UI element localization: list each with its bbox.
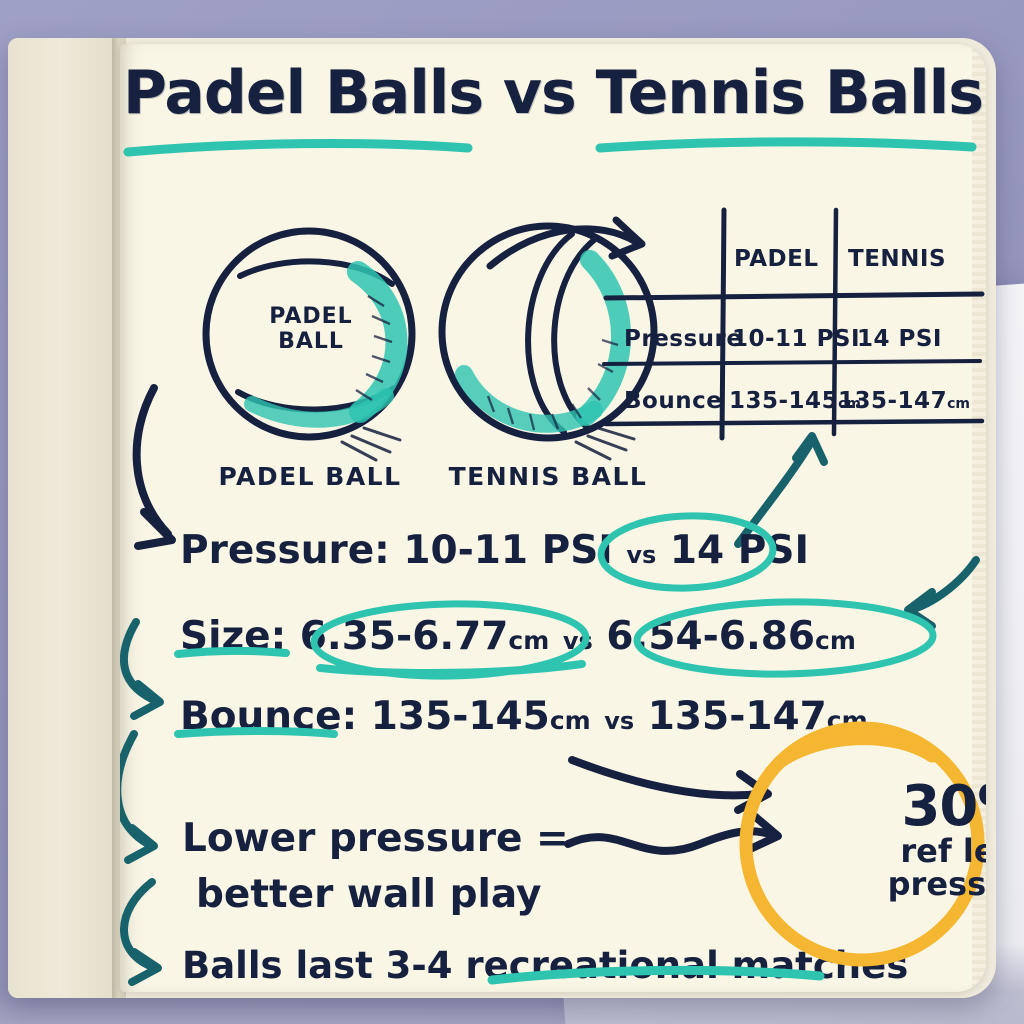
bullet-bounce: Bounce: 135-145cm vs 135-147cm <box>180 694 868 739</box>
bullet-bounce-vs: vs <box>604 707 634 735</box>
bullet-pressure-padel-value: 10-11 PSI <box>403 528 613 573</box>
ink-layer: Padel Balls vs Tennis Balls <box>120 44 986 992</box>
table-cell-pressure-tennis: 14 PSI <box>857 326 942 352</box>
comparison-table: PADEL TENNIS Pressure 10-11 PSI 14 PSI B… <box>712 240 986 452</box>
bullet-pressure-vs: vs <box>626 541 656 569</box>
bullet-bounce-padel-unit: cm <box>550 706 591 735</box>
bullet-pressure: Pressure: 10-11 PSI vs 14 PSI <box>180 528 809 573</box>
bullet-size-vs: vs <box>563 627 593 655</box>
bullet-pressure-label: Pressure: <box>180 528 390 573</box>
padel-inner-line1: PADEL <box>269 304 352 329</box>
table-row-label-bounce: Bounce <box>624 388 722 414</box>
tennis-ball-caption: TENNIS BALL <box>418 462 678 491</box>
bullet-size: Size: 6.35-6.77cm vs 6.54-6.86cm <box>180 614 856 659</box>
page-title: Padel Balls vs Tennis Balls <box>120 58 986 128</box>
note-lifespan: Balls last 3-4 recreational matches <box>182 944 908 987</box>
bullet-pressure-tennis-value: 14 PSI <box>670 528 809 573</box>
notebook-left-page <box>8 38 126 998</box>
note-wall-play-line2: better wall play <box>196 872 541 917</box>
padel-ball-inner-label: PADEL BALL <box>252 304 370 355</box>
table-col-header-tennis: TENNIS <box>848 246 946 272</box>
bullet-bounce-label: Bounce: <box>180 694 357 739</box>
pressure-badge: 30% ref less pressure <box>864 736 986 942</box>
bullet-size-label: Size: <box>180 614 286 659</box>
padel-ball-caption: PADEL BALL <box>180 462 440 491</box>
bullet-size-padel-value: 6.35-6.77 <box>300 614 509 659</box>
badge-line2: ref less <box>900 835 986 868</box>
table-bounce-tennis-unit: cm <box>947 396 970 412</box>
note-wall-play-line1: Lower pressure = <box>182 816 569 861</box>
padel-inner-line2: BALL <box>278 329 344 354</box>
infographic-page: Padel Balls vs Tennis Balls <box>0 0 1024 1024</box>
bullet-bounce-tennis-unit: cm <box>827 706 868 735</box>
bullet-size-tennis-value: 6.54-6.86 <box>606 614 815 659</box>
table-col-header-padel: PADEL <box>734 246 819 272</box>
bullet-size-tennis-unit: cm <box>815 626 856 655</box>
notebook-right-page: Padel Balls vs Tennis Balls <box>120 44 986 992</box>
table-cell-bounce-tennis: 135-147cm <box>838 388 970 414</box>
badge-value: 30% <box>901 778 986 835</box>
tennis-ball-drawing <box>442 226 654 459</box>
table-bounce-tennis-value: 135-147 <box>838 388 947 414</box>
notebook: Padel Balls vs Tennis Balls <box>8 38 996 998</box>
bullet-size-padel-unit: cm <box>508 626 549 655</box>
bullet-bounce-tennis-value: 135-147 <box>648 694 827 739</box>
badge-line3: pressure <box>888 868 986 901</box>
table-cell-pressure-padel: 10-11 PSI <box>732 326 860 352</box>
bullet-bounce-padel-value: 135-145 <box>371 694 550 739</box>
table-row-label-pressure: Pressure <box>624 326 743 352</box>
table-bounce-padel-value: 135-145 <box>729 388 838 414</box>
